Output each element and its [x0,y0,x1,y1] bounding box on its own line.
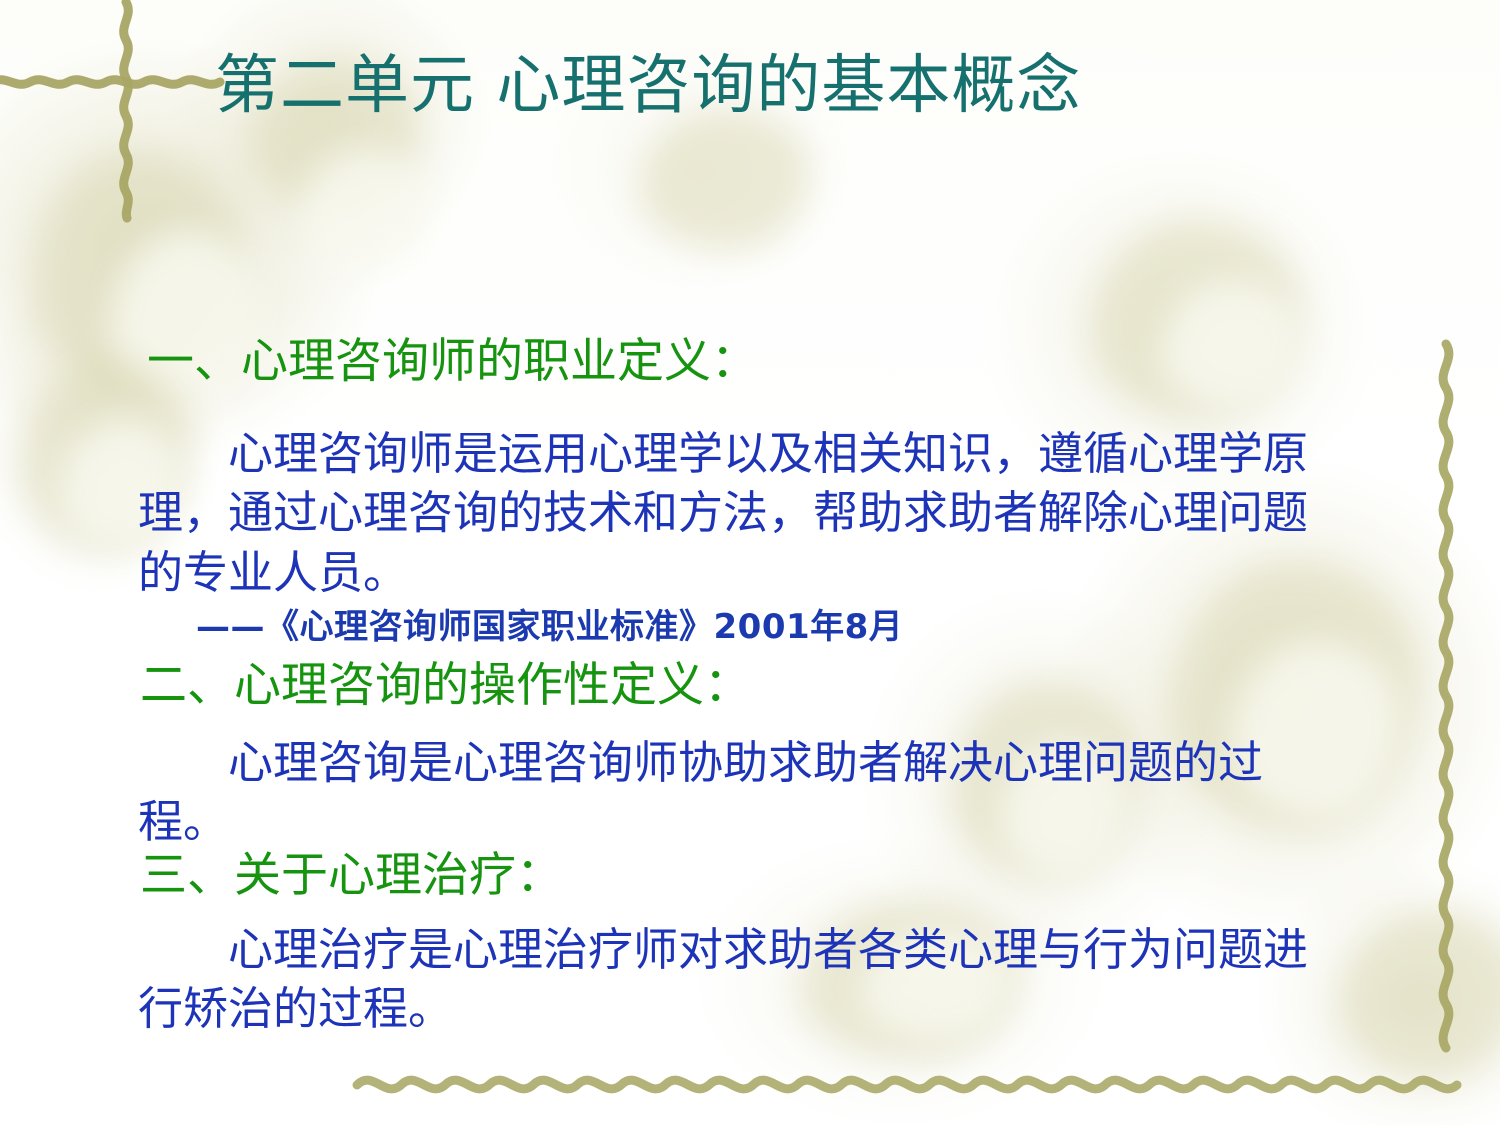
slide-canvas: 第二单元 心理咨询的基本概念 一、心理咨询师的职业定义： 心理咨询师是运用心理学… [0,0,1500,1125]
section-body-1: 心理咨询师是运用心理学以及相关知识，遵循心理学原理，通过心理咨询的技术和方法，帮… [138,424,1318,602]
section-heading-1: 一、心理咨询师的职业定义： [147,336,758,388]
section-heading-2: 二、心理咨询的操作性定义： [140,660,751,712]
section-body-3: 心理治疗是心理治疗师对求助者各类心理与行为问题进行矫治的过程。 [138,920,1318,1039]
bamboo-horizontal-icon-top-left [0,52,240,112]
section-body-2: 心理咨询是心理咨询师协助求助者解决心理问题的过程。 [138,733,1318,852]
section-citation-1: ——《心理咨询师国家职业标准》2001年8月 [196,599,903,648]
bamboo-vertical-icon-top-left [100,0,160,220]
bamboo-horizontal-icon-bottom [355,1055,1465,1115]
section-heading-3: 三、关于心理治疗： [140,850,563,902]
bamboo-vertical-icon-right [1420,340,1480,1060]
page-title: 第二单元 心理咨询的基本概念 [215,52,1275,121]
